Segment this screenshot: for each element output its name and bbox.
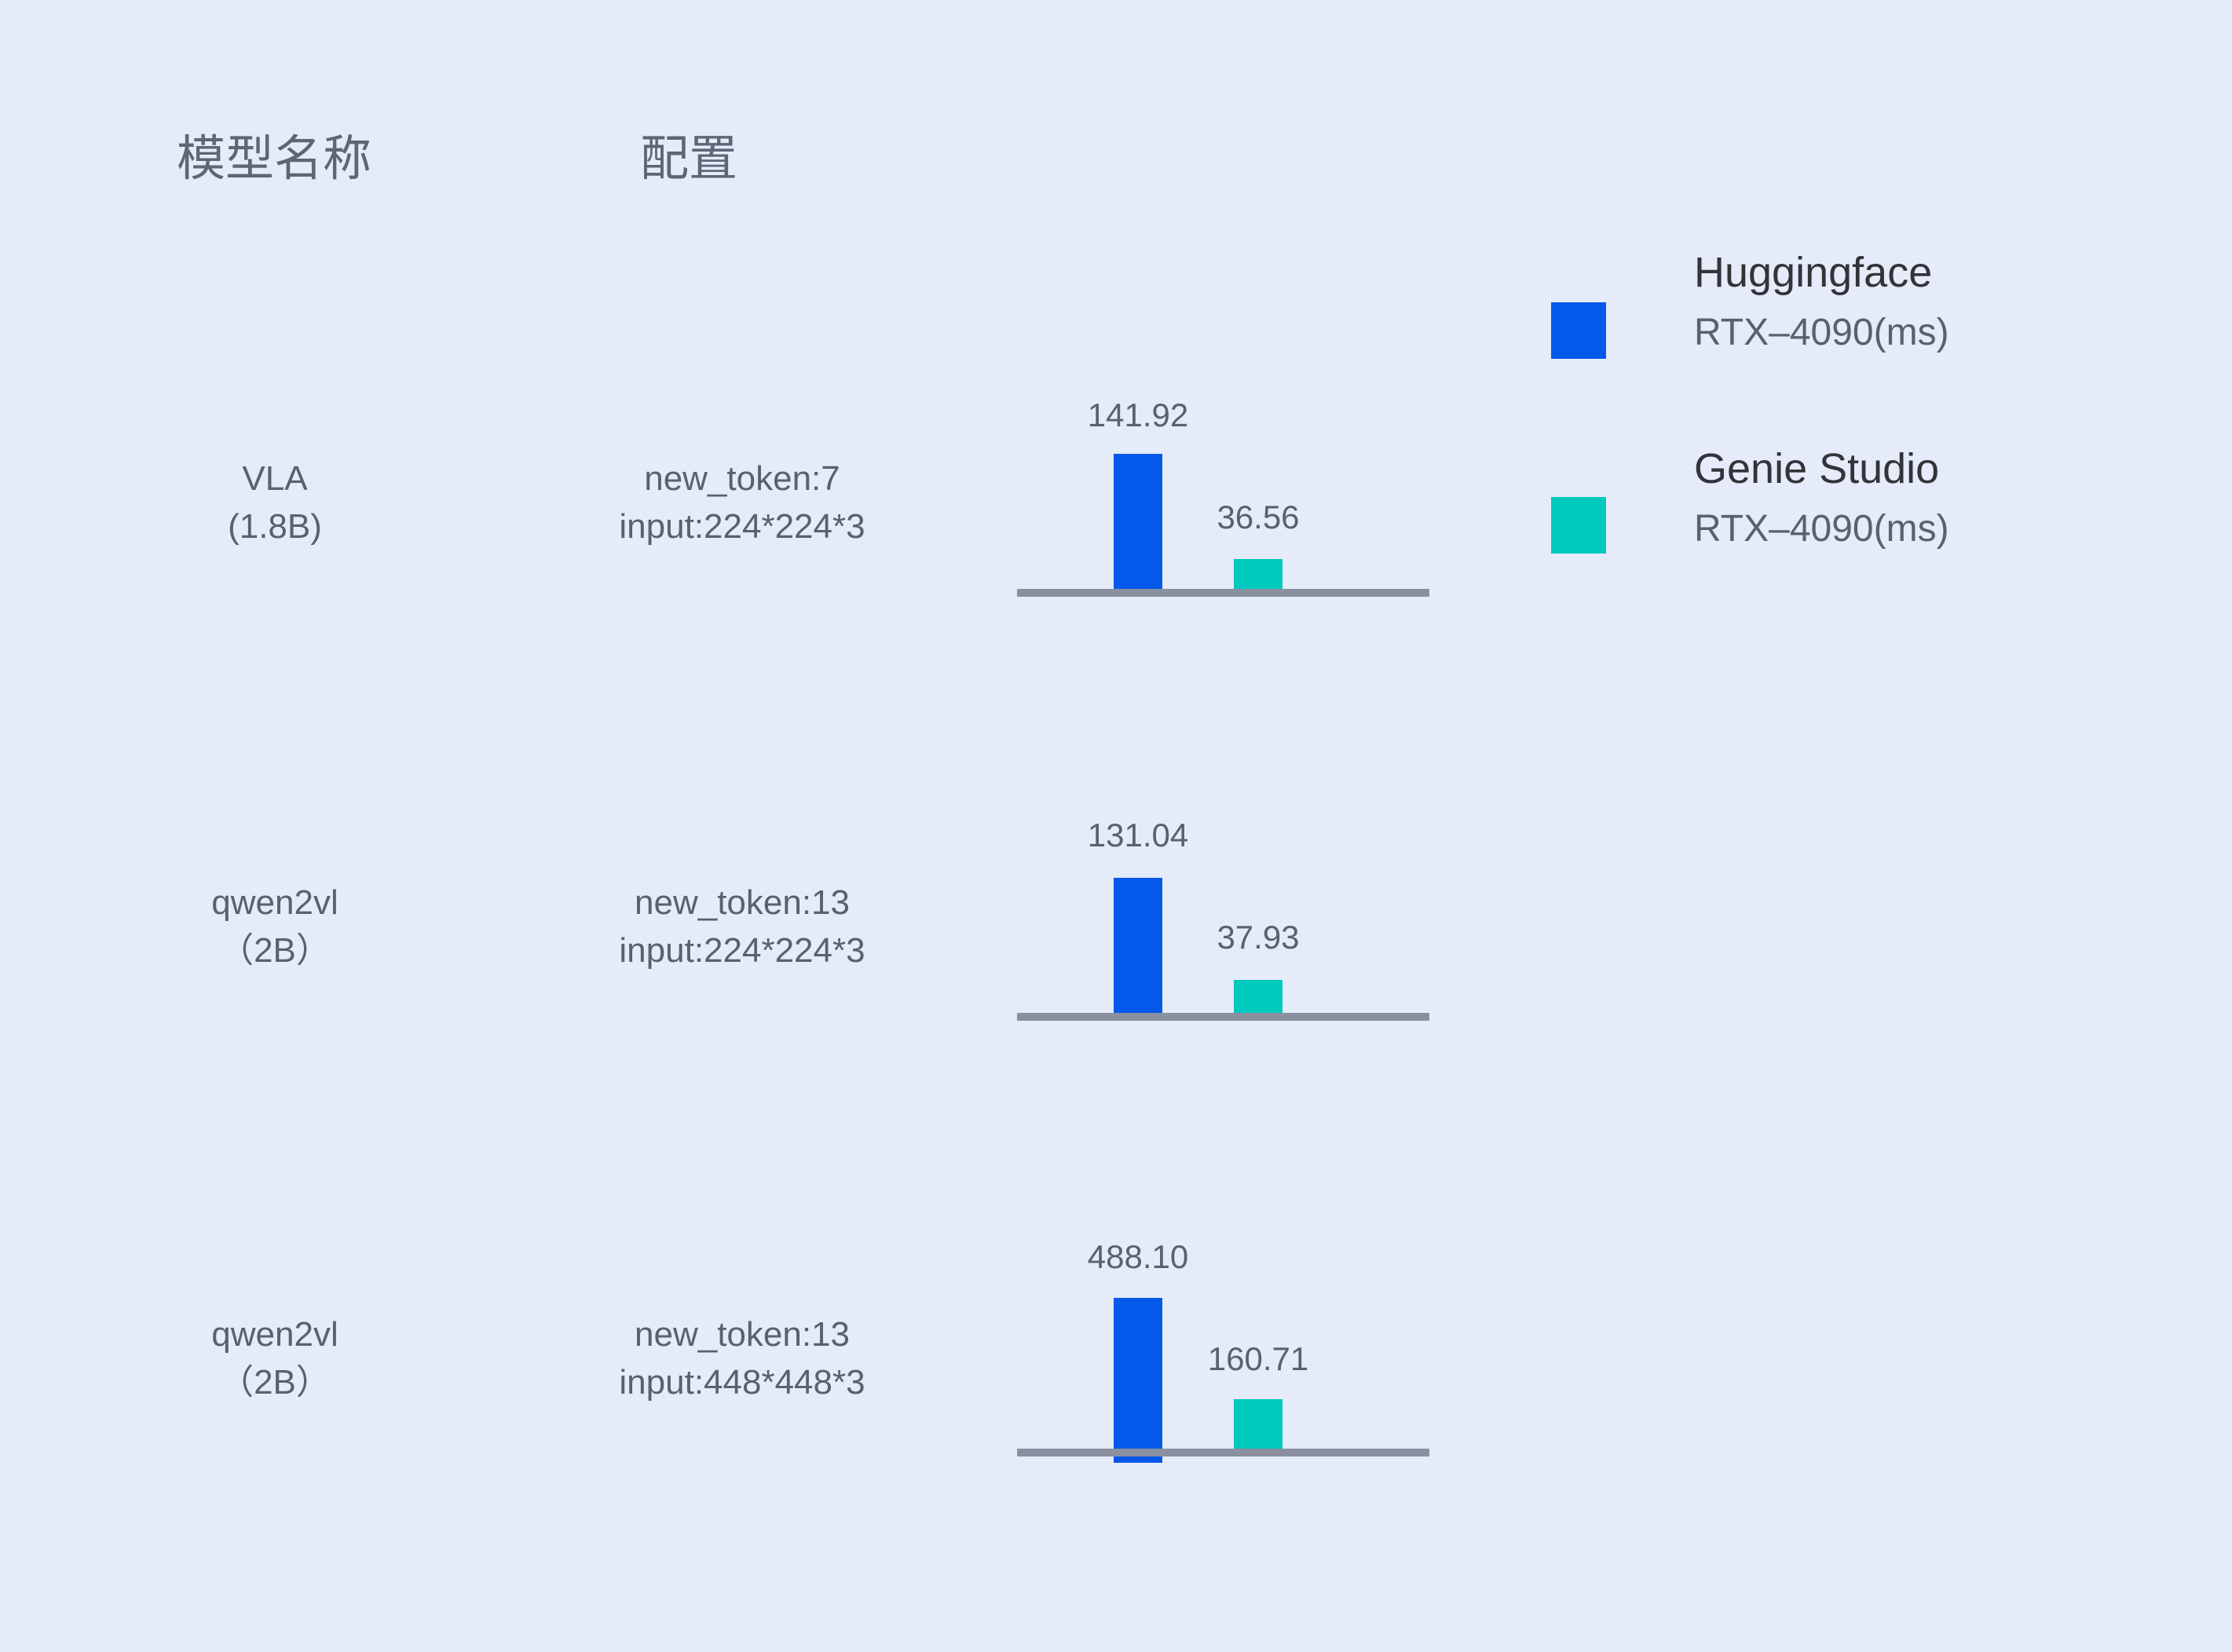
row-bar-panel: 131.04 37.93: [1017, 683, 1429, 1029]
config-input-line: input:448*448*3: [456, 1359, 1029, 1407]
bar-huggingface[interactable]: [1114, 878, 1162, 1021]
model-size-line: （2B）: [118, 927, 432, 975]
baseline-axis: [1017, 1013, 1429, 1021]
model-size-line: (1.8B): [118, 503, 432, 551]
chart-canvas: 模型名称 配置 VLA (1.8B) new_token:7 input:224…: [0, 0, 2232, 1652]
legend-item-genie-studio[interactable]: Genie Studio RTX–4090(ms): [1551, 448, 2101, 644]
baseline-axis: [1017, 1449, 1429, 1456]
model-name-line: qwen2vl: [118, 879, 432, 927]
baseline-axis: [1017, 589, 1429, 597]
config-tokens-line: new_token:13: [456, 1311, 1029, 1359]
row-model-label: VLA (1.8B): [118, 455, 432, 550]
bar-value-genie: 36.56: [1164, 501, 1352, 534]
legend-text-block: Genie Studio RTX–4090(ms): [1694, 448, 2102, 548]
chart-row: qwen2vl （2B） new_token:13 input:224*224*…: [0, 683, 2232, 1029]
model-name-line: qwen2vl: [118, 1311, 432, 1359]
row-model-label: qwen2vl （2B）: [118, 879, 432, 974]
legend-text-block: Huggingface RTX–4090(ms): [1694, 251, 2102, 352]
row-config-label: new_token:7 input:224*224*3: [456, 455, 1029, 550]
bar-value-huggingface: 131.04: [1044, 819, 1232, 852]
column-header-model-name: 模型名称: [177, 135, 371, 184]
config-tokens-line: new_token:13: [456, 879, 1029, 927]
bar-value-huggingface: 488.10: [1044, 1241, 1232, 1274]
legend-sublabel: RTX–4090(ms): [1694, 510, 2102, 548]
bar-value-genie: 37.93: [1164, 921, 1352, 954]
chart-row: qwen2vl （2B） new_token:13 input:448*448*…: [0, 1107, 2232, 1464]
bar-huggingface[interactable]: [1114, 1298, 1162, 1463]
legend-label: Huggingface: [1694, 251, 2102, 294]
row-bar-panel: 488.10 160.71: [1017, 1107, 1429, 1464]
legend-sublabel: RTX–4090(ms): [1694, 314, 2102, 352]
legend-swatch-blue-icon: [1551, 302, 1606, 359]
row-model-label: qwen2vl （2B）: [118, 1311, 432, 1406]
bar-value-huggingface: 141.92: [1044, 399, 1232, 432]
model-name-line: VLA: [118, 455, 432, 503]
legend-label: Genie Studio: [1694, 448, 2102, 490]
row-bar-panel: 141.92 36.56: [1017, 259, 1429, 605]
config-input-line: input:224*224*3: [456, 503, 1029, 551]
legend-item-huggingface[interactable]: Huggingface RTX–4090(ms): [1551, 251, 2101, 448]
model-size-line: （2B）: [118, 1359, 432, 1407]
row-config-label: new_token:13 input:224*224*3: [456, 879, 1029, 974]
row-config-label: new_token:13 input:448*448*3: [456, 1311, 1029, 1406]
column-header-config: 配置: [640, 135, 737, 184]
config-tokens-line: new_token:7: [456, 455, 1029, 503]
bar-huggingface[interactable]: [1114, 454, 1162, 597]
legend-swatch-teal-icon: [1551, 497, 1606, 554]
config-input-line: input:224*224*3: [456, 927, 1029, 975]
chart-legend: Huggingface RTX–4090(ms) Genie Studio RT…: [1551, 251, 2101, 644]
bar-value-genie: 160.71: [1164, 1343, 1352, 1376]
